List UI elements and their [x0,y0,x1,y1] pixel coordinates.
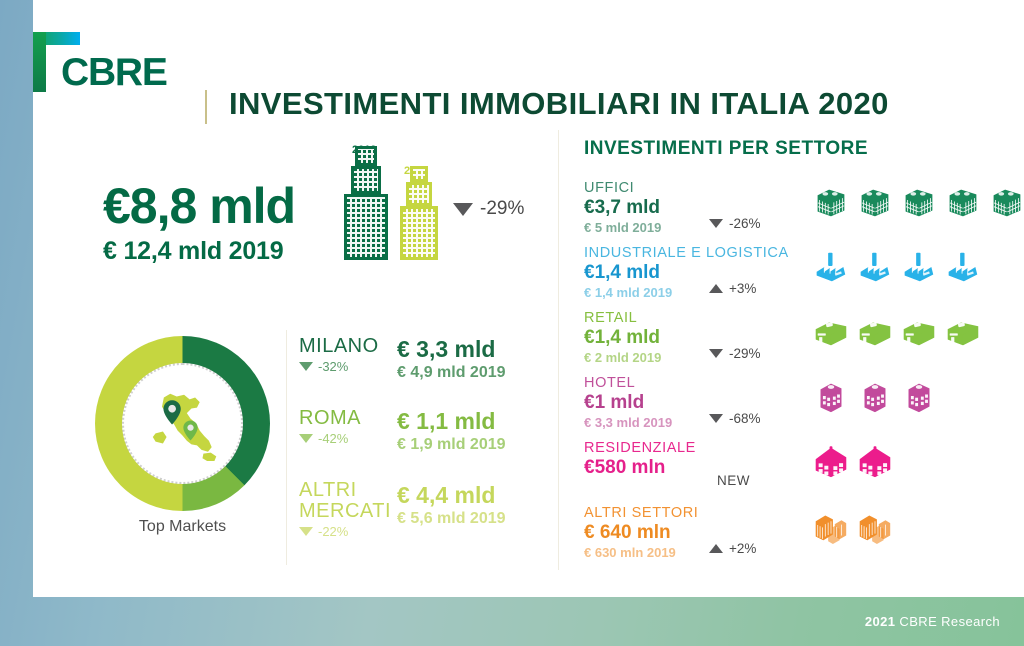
sector-name: RESIDENZIALE [584,440,1014,456]
sector-previous: € 3,3 mld 2019 [584,415,1014,430]
total-investment-value: €8,8 mld [103,180,295,233]
sector-icon-group [812,377,938,415]
sectors-heading: INVESTIMENTI PER SETTORE [584,138,868,160]
city-row-altri-mercati: ALTRI MERCATI -22% € 4,4 mld € 5,6 mld 2… [299,480,539,572]
triangle-down-icon [299,527,313,536]
sector-row-hotel: HOTEL€1 mld€ 3,3 mld 2019-68% [584,375,1014,440]
sector-value: €580 mln [584,457,1014,479]
top-markets-chart: Top Markets [95,336,270,541]
sector-icon-group [812,247,982,285]
triangle-down-icon [299,434,313,443]
main-card: CBRE INVESTIMENTI IMMOBILIARI IN ITALIA … [33,0,1024,597]
donut-chart [95,336,270,511]
logo-bar-vertical [33,32,46,92]
office-building-icon [988,182,1024,220]
hotel-tower-icon [812,377,850,415]
city-delta-value: -22% [318,524,348,539]
sector-row-industriale-e-logistica: INDUSTRIALE E LOGISTICA€1,4 mld€ 1,4 mld… [584,245,1014,310]
city-value: € 1,1 mld [397,408,495,435]
triangle-down-icon [709,349,723,358]
footer-credit: 2021 CBRE Research [865,614,1000,629]
sector-name: ALTRI SETTORI [584,505,1014,521]
sector-row-altri-settori: ALTRI SETTORI€ 640 mln€ 630 mln 2019+2% [584,505,1014,570]
sector-delta: +2% [709,541,756,556]
total-investment-delta: -29% [453,198,524,220]
divider-markets [286,330,287,565]
factory-icon [812,247,850,285]
hotel-tower-icon [900,377,938,415]
city-delta-value: -42% [318,431,348,446]
footer-year: 2021 [865,614,896,629]
cbre-wordmark: CBRE [61,51,167,95]
sector-previous: € 630 mln 2019 [584,545,1014,560]
factory-icon [944,247,982,285]
city-name-line2: MERCATI [299,500,391,522]
factory-icon [900,247,938,285]
shop-icon [900,312,938,350]
city-row-roma: ROMA -42% € 1,1 mld € 1,9 mld 2019 [299,408,539,480]
sector-delta: -29% [709,346,761,361]
city-previous: € 1,9 mld 2019 [397,436,506,454]
sector-value: €1 mld [584,392,1014,414]
triangle-down-icon [709,219,723,228]
sector-value: € 640 mln [584,522,1014,544]
sector-row-retail: RETAIL€1,4 mld€ 2 mld 2019-29% [584,310,1014,375]
factory-icon [856,247,894,285]
sector-list: UFFICI€3,7 mld€ 5 mld 2019-26% [584,180,1014,570]
city-value: € 4,4 mld [397,482,495,509]
total-delta-value: -29% [480,198,524,220]
tower-2019-icon [344,146,388,260]
mixed-buildings-icon [812,507,850,545]
tower-2020-icon [400,166,438,260]
sector-row-residenziale: RESIDENZIALE€580 mlnNEW [584,440,1014,505]
top-markets-caption: Top Markets [95,518,270,536]
cbre-logo: CBRE [33,32,173,112]
italy-map-icon [139,380,231,472]
sector-delta: -26% [709,216,761,231]
sector-delta: NEW [717,473,750,488]
mixed-buildings-icon [856,507,894,545]
divider-sectors [558,130,559,570]
sector-delta-value: NEW [717,473,750,488]
footer-text: CBRE Research [895,614,1000,629]
sector-delta-value: -68% [729,411,761,426]
house-icon [856,442,894,480]
tower-comparison-chart: 2019 2020 [338,140,448,260]
sector-previous: € 2 mld 2019 [584,350,1014,365]
total-investment-block: €8,8 mld € 12,4 mld 2019 [103,180,295,266]
city-previous: € 4,9 mld 2019 [397,364,506,382]
office-building-icon [944,182,982,220]
page-title: INVESTIMENTI IMMOBILIARI IN ITALIA 2020 [229,86,889,122]
sector-delta: -68% [709,411,761,426]
sector-icon-group [812,312,982,350]
triangle-down-icon [709,414,723,423]
sector-icon-group [812,507,894,545]
city-delta-value: -32% [318,359,348,374]
office-building-icon [856,182,894,220]
city-name-line1: ALTRI [299,479,357,501]
office-building-icon [900,182,938,220]
house-icon [812,442,850,480]
triangle-down-icon [453,203,473,216]
sector-delta-value: -26% [729,216,761,231]
shop-icon [812,312,850,350]
sector-previous: € 5 mld 2019 [584,220,1014,235]
shop-icon [944,312,982,350]
city-previous: € 5,6 mld 2019 [397,510,506,528]
triangle-up-icon [709,284,723,293]
sector-previous: € 1,4 mld 2019 [584,285,1014,300]
sector-delta: +3% [709,281,756,296]
total-investment-previous: € 12,4 mld 2019 [103,237,295,266]
city-row-milano: MILANO -32% € 3,3 mld € 4,9 mld 2019 [299,336,539,408]
office-building-icon [812,182,850,220]
page-header: CBRE INVESTIMENTI IMMOBILIARI IN ITALIA … [33,22,1024,112]
city-value: € 3,3 mld [397,336,495,363]
city-breakdown-list: MILANO -32% € 3,3 mld € 4,9 mld 2019 ROM… [299,336,539,572]
sector-icon-group [812,442,894,480]
sector-icon-group [812,182,1024,220]
shop-icon [856,312,894,350]
triangle-up-icon [709,544,723,553]
header-divider [205,90,207,124]
sector-delta-value: -29% [729,346,761,361]
triangle-down-icon [299,362,313,371]
sector-delta-value: +2% [729,541,756,556]
sector-row-uffici: UFFICI€3,7 mld€ 5 mld 2019-26% [584,180,1014,245]
sector-name: HOTEL [584,375,1014,391]
hotel-tower-icon [856,377,894,415]
sector-delta-value: +3% [729,281,756,296]
